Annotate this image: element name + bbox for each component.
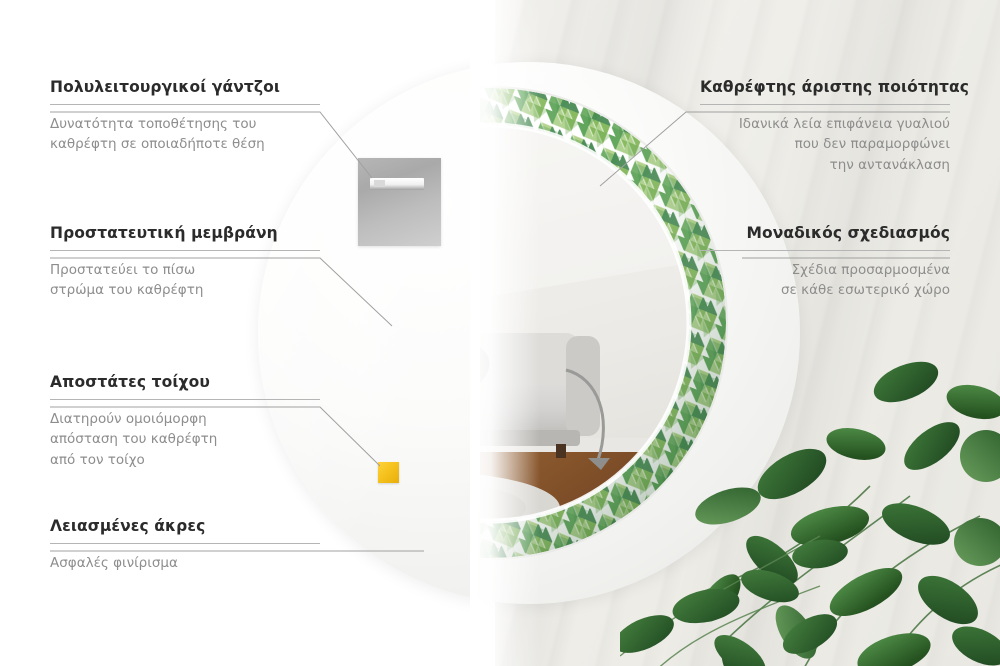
callout-edges: Λειασμένες άκρες Ασφαλές φινίρισμα <box>50 517 320 573</box>
callout-edges-title: Λειασμένες άκρες <box>50 517 320 536</box>
callout-hooks-desc: Δυνατότητα τοποθέτησης του καθρέφτη σε ο… <box>50 114 320 155</box>
callout-spacers-title: Αποστάτες τοίχου <box>50 373 320 392</box>
foliage-decoration-secondary <box>620 466 850 666</box>
callout-edges-rule <box>50 543 320 544</box>
callout-hooks: Πολυλειτουργικοί γάντζοι Δυνατότητα τοπο… <box>50 78 320 155</box>
callout-design-desc: Σχέδια προσαρμοσμένα σε κάθε εσωτερικό χ… <box>700 260 950 301</box>
callout-design-title: Μοναδικός σχεδιασμός <box>700 224 950 243</box>
mounting-hook-plate <box>358 158 441 246</box>
product-feature-diagram: Πολυλειτουργικοί γάντζοι Δυνατότητα τοπο… <box>0 0 1000 666</box>
callout-design-rule <box>700 250 950 251</box>
hook-slot-icon <box>370 178 424 190</box>
callout-quality-desc: Ιδανικά λεία επιφάνεια γυαλιού που δεν π… <box>700 114 950 176</box>
callout-quality-mirror: Καθρέφτης άριστης ποιότητας Ιδανικά λεία… <box>700 78 950 175</box>
callout-spacers-desc: Διατηρούν ομοιόμορφη απόσταση του καθρέφ… <box>50 409 320 471</box>
callout-edges-desc: Ασφαλές φινίρισμα <box>50 553 320 574</box>
callout-spacers-rule <box>50 399 320 400</box>
callout-quality-title: Καθρέφτης άριστης ποιότητας <box>700 78 950 97</box>
callout-spacers: Αποστάτες τοίχου Διατηρούν ομοιόμορφη απ… <box>50 373 320 470</box>
callout-hooks-rule <box>50 104 320 105</box>
callout-membrane-rule <box>50 250 320 251</box>
callout-hooks-title: Πολυλειτουργικοί γάντζοι <box>50 78 320 97</box>
callout-membrane-desc: Προστατεύει το πίσω στρώμα του καθρέφτη <box>50 260 320 301</box>
callout-membrane: Προστατευτική μεμβράνη Προστατεύει το πί… <box>50 224 320 301</box>
wall-spacer-yellow <box>378 462 399 483</box>
callout-unique-design: Μοναδικός σχεδιασμός Σχέδια προσαρμοσμέν… <box>700 224 950 301</box>
callout-quality-rule <box>700 104 950 105</box>
callout-membrane-title: Προστατευτική μεμβράνη <box>50 224 320 243</box>
